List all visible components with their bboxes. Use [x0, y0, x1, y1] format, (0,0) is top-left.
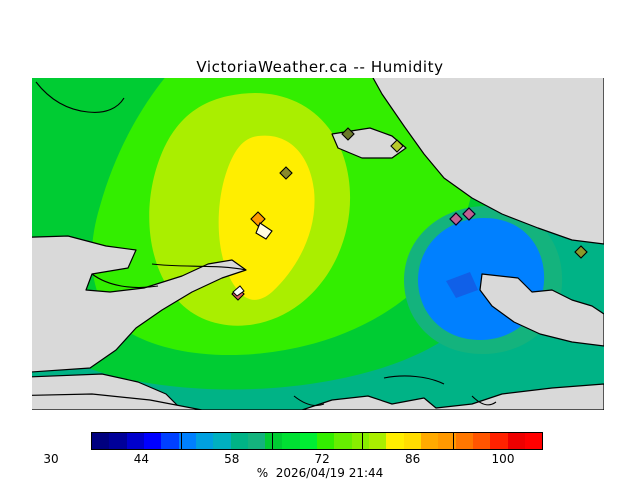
colorbar-swatch-6: [196, 433, 213, 449]
weather-map-app: VictoriaWeather.ca -- Humidity: [0, 0, 640, 480]
colorbar-swatch-15: [352, 433, 369, 449]
colorbar-swatch-16: [369, 433, 386, 449]
colorbar-swatch-3: [144, 433, 161, 449]
colorbar-swatch-11: [282, 433, 299, 449]
colorbar-swatch-23: [490, 433, 507, 449]
colorbar-caption: % 2026/04/19 21:44: [0, 466, 640, 480]
colorbar-swatch-1: [109, 433, 126, 449]
colorbar-swatch-13: [317, 433, 334, 449]
colorbar-swatch-21: [456, 433, 473, 449]
colorbar-tick-58: [272, 432, 273, 450]
colorbar-tick-72: [362, 432, 363, 450]
colorbar-label-72: 72: [282, 452, 362, 466]
colorbar: [91, 432, 543, 450]
colorbar-label-86: 86: [373, 452, 453, 466]
colorbar-label-100: 100: [463, 452, 543, 466]
colorbar-swatch-0: [92, 433, 109, 449]
page-title: VictoriaWeather.ca -- Humidity: [0, 58, 640, 76]
colorbar-swatch-19: [421, 433, 438, 449]
colorbar-label-58: 58: [192, 452, 272, 466]
colorbar-swatch-17: [386, 433, 403, 449]
colorbar-swatch-12: [300, 433, 317, 449]
humidity-map-panel[interactable]: [32, 78, 604, 410]
humidity-contour-svg: [32, 78, 604, 410]
colorbar-tick-44: [181, 432, 182, 450]
colorbar-label-30: 30: [11, 452, 91, 466]
colorbar-swatch-2: [127, 433, 144, 449]
colorbar-swatch-8: [231, 433, 248, 449]
colorbar-swatch-4: [161, 433, 178, 449]
colorbar-label-44: 44: [101, 452, 181, 466]
colorbar-swatch-25: [525, 433, 542, 449]
colorbar-swatch-9: [248, 433, 265, 449]
colorbar-swatch-18: [404, 433, 421, 449]
colorbar-strip: [91, 432, 543, 450]
colorbar-swatch-10: [265, 433, 282, 449]
colorbar-swatch-14: [334, 433, 351, 449]
colorbar-tick-86: [453, 432, 454, 450]
colorbar-swatch-24: [508, 433, 525, 449]
colorbar-swatch-7: [213, 433, 230, 449]
colorbar-tick-labels: 3044587286100: [0, 452, 492, 466]
colorbar-swatch-22: [473, 433, 490, 449]
